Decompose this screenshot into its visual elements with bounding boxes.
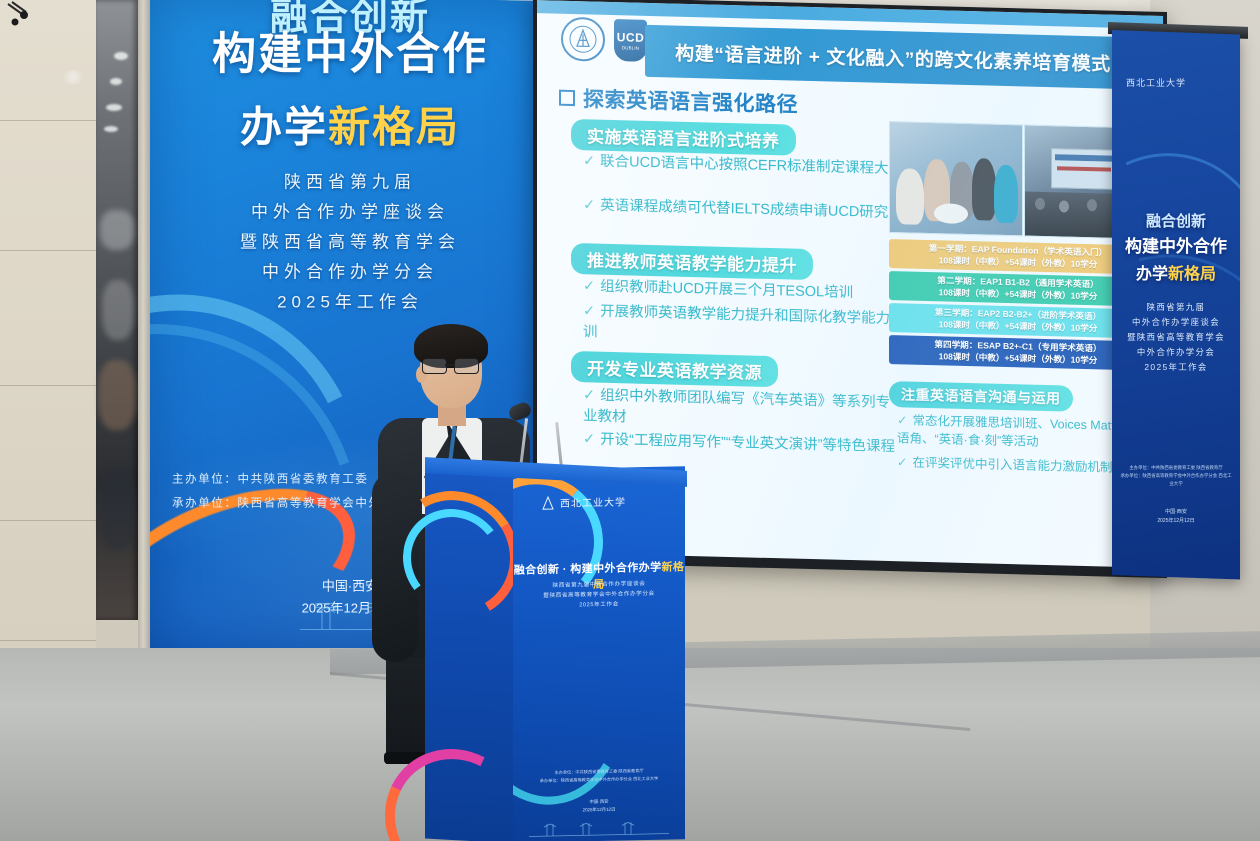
ucd-logo-sub: DUBLIN <box>622 45 639 50</box>
rollup-line-sub-b: 新格局 <box>1168 266 1216 283</box>
podium-university-logo: 西北工业大学 <box>541 493 626 510</box>
slide-right-bullet-1: ✓常态化开展雅思培训班、Voices Matter英语角、“英语·食·刻”等活动 <box>897 411 1145 453</box>
semester-row-2: 第二学期：EAP1 B1-B2（通用学术英语） 108课时（中教）+54课时（外… <box>889 271 1147 307</box>
check-icon: ✓ <box>897 413 907 427</box>
backdrop-org-host: 主办单位：中共陕西省委教育工委 <box>172 469 369 489</box>
check-icon: ✓ <box>583 153 595 169</box>
university-seal-icon <box>561 17 605 62</box>
backdrop-subtitle-4: 2025年工作会 <box>150 287 550 317</box>
slide-right-bullet-2: ✓在评奖评优中引入语言能力激励机制 <box>897 453 1145 477</box>
slide-bullet-3-1: ✓组织中外教师团队编写《汽车英语》等系列专业教材 <box>583 385 903 435</box>
rollup-org: 主办单位：中共陕西省委教育工委 陕西省教育厅 承办单位：陕西省高等教育学会中外合… <box>1120 464 1232 488</box>
slide-section-pill-1: 实施英语语言进阶式培养 <box>571 119 796 156</box>
slide-right-bullet-2-text: 在评奖评优中引入语言能力激励机制 <box>912 456 1112 475</box>
speaker-glasses-icon <box>422 358 480 372</box>
backdrop-subtitle-3: 中外合作办学分会 <box>150 257 550 287</box>
slide-bullet-2-2: ✓开展教师英语教学能力提升和国际化教学能力培训 <box>583 301 913 351</box>
mirrored-wall-strip <box>96 0 138 620</box>
slide-bullet-2-1: ✓组织教师赴UCD开展三个月TESOL培训 <box>583 276 913 305</box>
slide-bullet-1-2-text: 英语课程成绩可代替IELTS成绩申请UCD研究生 <box>600 198 903 222</box>
rollup-subtitle-4: 2025年工作会 <box>1112 360 1240 375</box>
rollup-subtitle-1: 中外合作办学座谈会 <box>1112 315 1240 330</box>
rollup-org-line2: 承办单位：陕西省高等教育学会中外合作办学分会 西北工业大学 <box>1120 472 1232 488</box>
rollup-line-top: 融合创新 <box>1112 210 1240 231</box>
slide-heading: 探索英语语言强化路径 <box>559 83 798 119</box>
slide-bullet-2-2-text: 开展教师英语教学能力提升和国际化教学能力培训 <box>583 304 905 341</box>
backdrop-subtitle-0: 陕西省第九届 <box>150 167 550 197</box>
check-icon: ✓ <box>897 455 907 469</box>
backdrop-line-sub-a: 办学 <box>240 103 328 150</box>
slide-section-pill-2: 推进教师英语教学能力提升 <box>571 243 813 280</box>
podium-headline-a: 融合创新 · 构建中外合作办学 <box>514 562 662 577</box>
backdrop-subtitle-2: 暨陕西省高等教育学会 <box>150 227 550 257</box>
podium-bridge-graphic <box>529 808 669 841</box>
rollup-banner: 西北工业大学 融合创新 构建中外合作 办学新格局 陕西省第九届 中外合作办学座谈… <box>1112 30 1240 579</box>
slide-bullet-3-1-text: 组织中外教师团队编写《汽车英语》等系列专业教材 <box>583 388 890 426</box>
semester-row-3: 第三学期：EAP2 B2-B2+（进阶学术英语） 108课时（中教）+54课时（… <box>889 303 1147 339</box>
rollup-line-sub: 办学新格局 <box>1112 260 1240 284</box>
slide-right-bullet-1-text: 常态化开展雅思培训班、Voices Matter英语角、“英语·食·刻”等活动 <box>897 414 1138 449</box>
ceiling-light-reflection <box>60 70 86 84</box>
podium: 西北工业大学 融合创新 · 构建中外合作办学新格局 陕西省第九届中外合作办学座谈… <box>425 468 725 841</box>
conference-room-photo: 融合创新 构建中外合作 办学新格局 陕西省第九届 中外合作办学座谈会 暨陕西省高… <box>0 0 1260 841</box>
backdrop-subtitle-1: 中外合作办学座谈会 <box>150 197 550 227</box>
check-icon: ✓ <box>583 387 595 403</box>
slide-bullet-1-1-text: 联合UCD语言中心按照CEFR标准制定课程大纲 <box>600 154 903 178</box>
slide-bullet-1-1: ✓联合UCD语言中心按照CEFR标准制定课程大纲 <box>583 151 913 180</box>
slide-bullet-2-1-text: 组织教师赴UCD开展三个月TESOL培训 <box>600 279 853 301</box>
backdrop-line-sub: 办学新格局 <box>150 93 550 154</box>
rollup-line-sub-a: 办学 <box>1136 266 1168 283</box>
slide-heading-text: 探索英语语言强化路径 <box>583 88 798 116</box>
rollup-org-line1: 主办单位：中共陕西省委教育工委 陕西省教育厅 <box>1120 464 1232 472</box>
slide-logos: UCD DUBLIN <box>561 17 647 63</box>
rollup-subtitle-2: 暨陕西省高等教育学会 <box>1112 330 1240 345</box>
podium-logo-text: 西北工业大学 <box>560 493 626 509</box>
square-bullet-icon <box>559 90 575 106</box>
slide-bullet-1-2: ✓英语课程成绩可代替IELTS成绩申请UCD研究生 <box>583 195 913 224</box>
semester-row-1: 第一学期：EAP Foundation（学术英语入门） 108课时（中教）+54… <box>889 239 1147 275</box>
rollup-subtitle-0: 陕西省第九届 <box>1112 300 1240 315</box>
check-icon: ✓ <box>583 197 595 213</box>
check-icon: ✓ <box>583 303 595 319</box>
backdrop-line-sub-b: 新格局 <box>328 103 460 150</box>
rollup-subtitle: 陕西省第九届 中外合作办学座谈会 暨陕西省高等教育学会 中外合作办学分会 202… <box>1112 300 1240 375</box>
slide-right-section-pill: 注重英语语言沟通与运用 <box>889 381 1073 412</box>
ceiling-cable <box>6 0 46 40</box>
check-icon: ✓ <box>583 431 595 447</box>
backdrop-line-main: 构建中外合作 <box>150 17 550 81</box>
rollup-place: 中国·西安 <box>1112 508 1240 517</box>
podium-subtitle: 陕西省第九届中外合作办学座谈会 暨陕西省高等教育学会中外合作办学分会 2025年… <box>513 578 685 612</box>
rollup-line-main: 构建中外合作 <box>1112 232 1240 257</box>
ucd-logo-text: UCD <box>617 30 645 45</box>
check-icon: ✓ <box>583 278 595 294</box>
slide-title: 构建“语言进阶 + 文化融入”的跨文化素养培育模式 <box>645 25 1141 90</box>
rollup-university-logo: 西北工业大学 <box>1126 76 1186 89</box>
podium-side-panel <box>425 471 515 841</box>
rollup-place-date: 中国·西安 2025年12月12日 <box>1112 508 1240 526</box>
rollup-subtitle-3: 中外合作办学分会 <box>1112 345 1240 360</box>
semester-row-4: 第四学期：ESAP B2+-C1（专用学术英语） 108课时（中教）+54课时（… <box>889 335 1147 371</box>
slide-section-pill-3: 开发专业英语教学资源 <box>571 351 778 387</box>
classroom-photo-left <box>889 121 1023 236</box>
podium-front-panel: 西北工业大学 融合创新 · 构建中外合作办学新格局 陕西省第九届中外合作办学座谈… <box>513 466 685 841</box>
slide-bullet-3-2-text: 开设“工程应用写作”“专业英文演讲”等特色课程 <box>600 432 895 455</box>
podium-org: 主办单位：中共陕西省委教育工委 陕西省教育厅 承办单位：陕西省高等教育学会中外合… <box>519 766 679 785</box>
university-mark-icon <box>541 495 555 509</box>
rollup-date: 2025年12月12日 <box>1112 517 1240 526</box>
ucd-logo-icon: UCD DUBLIN <box>614 19 647 62</box>
